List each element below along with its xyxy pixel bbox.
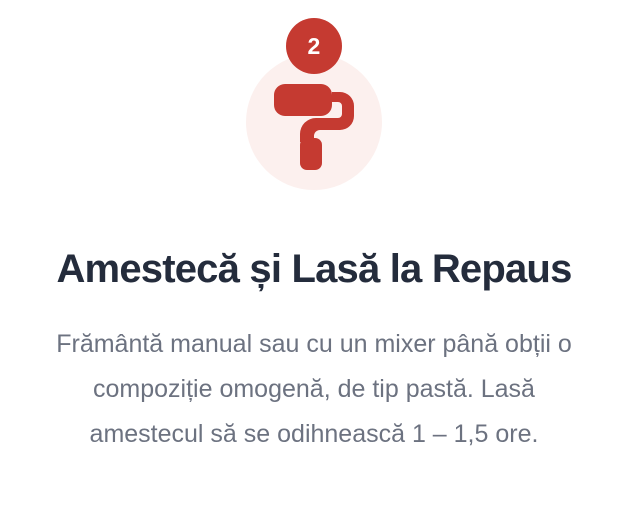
step-description-line: amestecul să se odihnească 1 – 1,5 ore. [24,412,604,457]
step-number-label: 2 [308,35,321,58]
step-description: Frământă manual sau cu un mixer până obț… [0,322,628,457]
step-card: 2 Amestecă și Lasă la Repaus Frământă ma… [0,0,628,514]
step-description-line: Frământă manual sau cu un mixer până obț… [24,322,604,367]
step-description-line: compoziție omogenă, de tip pastă. Lasă [24,367,604,412]
step-title: Amestecă și Lasă la Repaus [0,246,628,292]
step-number-badge: 2 [286,18,342,74]
paint-roller-icon [246,54,382,190]
step-icon-cluster: 2 [246,0,382,190]
